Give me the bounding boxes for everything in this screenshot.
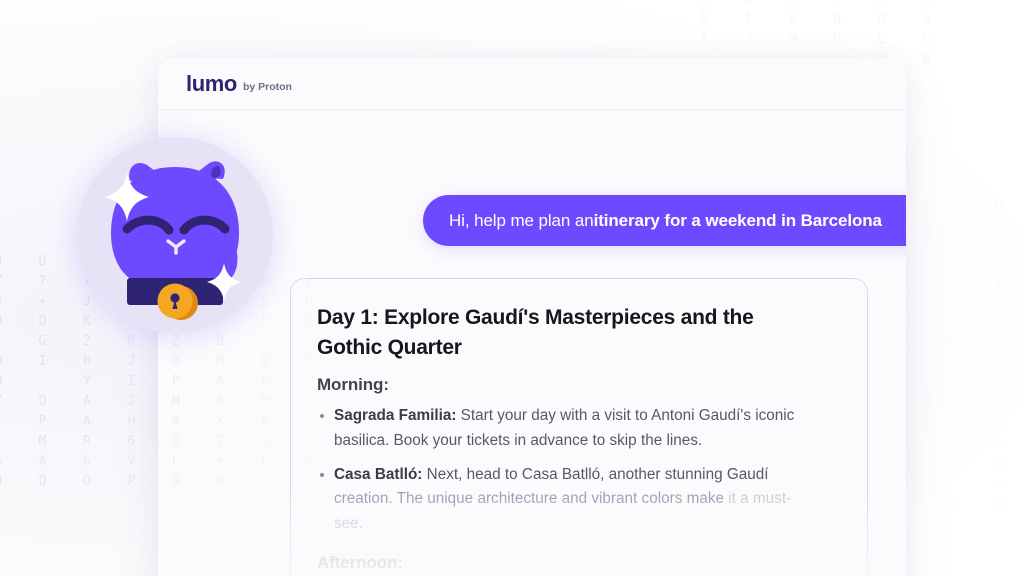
list-item-text-a: Next, head to Casa Batlló, another stunn… <box>422 466 768 483</box>
morning-bullet-list: Sagrada Familia: Start your day with a v… <box>317 404 839 537</box>
brand-byline: by Proton <box>243 82 292 93</box>
brand-logo[interactable]: lumo by Proton <box>186 73 292 95</box>
list-item: Casa Batlló: Next, head to Casa Batlló, … <box>317 463 817 537</box>
answer-title: Day 1: Explore Gaudí's Masterpieces and … <box>317 303 757 363</box>
section-label-morning: Morning: <box>317 375 839 395</box>
user-message-bubble: Hi, help me plan an itinerary for a week… <box>423 195 906 246</box>
list-item-text-b: creation. The unique architecture and vi… <box>334 490 724 507</box>
screenshot-stage: M U X P D K E I V Q R S A J M D L C X U … <box>0 0 1024 576</box>
list-item-text-b: basilica. Book your tickets in advance t… <box>334 432 702 449</box>
avatar[interactable] <box>77 137 273 333</box>
user-message-plain: Hi, help me plan an <box>449 211 594 231</box>
user-message-bold: itinerary for a weekend in Barcelona <box>594 211 882 231</box>
brand-wordmark: lumo <box>186 73 237 95</box>
app-header: lumo by Proton <box>158 58 906 110</box>
list-item-lead: Casa Batlló: <box>334 466 422 483</box>
lumo-cat-icon <box>77 137 273 333</box>
assistant-answer-card: Day 1: Explore Gaudí's Masterpieces and … <box>290 278 868 576</box>
list-item-text-a: Start your day with a visit to Antoni Ga… <box>456 407 794 424</box>
app-window: lumo by Proton Day 1: Explore Gaudí's Ma… <box>158 58 906 576</box>
list-item: Sagrada Familia: Start your day with a v… <box>317 404 817 454</box>
section-label-afternoon: Afternoon: <box>317 553 839 573</box>
list-item-lead: Sagrada Familia: <box>334 407 456 424</box>
cipher-pattern-right: D X R U Q E U T 2 K P H P E A M I M U L … <box>906 196 1024 516</box>
